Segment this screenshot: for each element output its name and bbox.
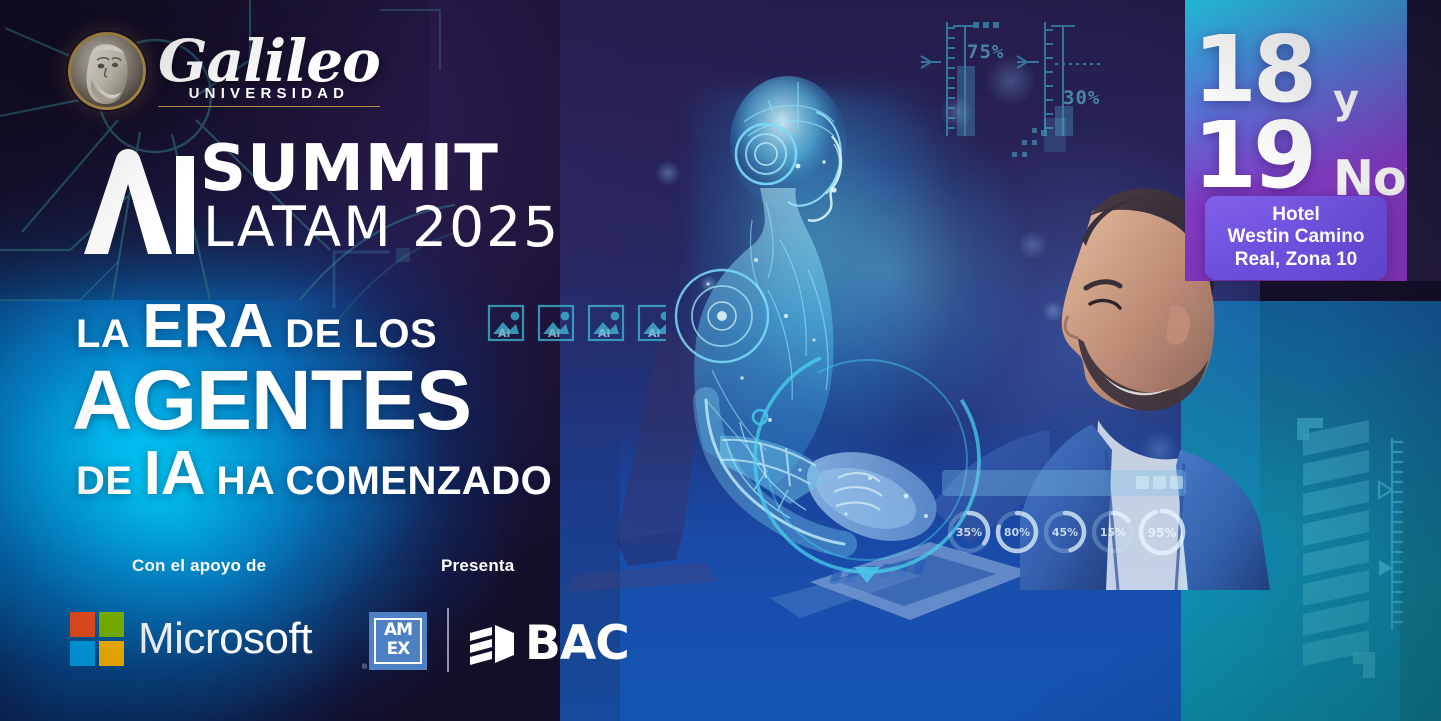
event-banner: 75% 30% AiAi AiAi (0, 0, 1441, 721)
vignette-overlay (0, 0, 1441, 721)
